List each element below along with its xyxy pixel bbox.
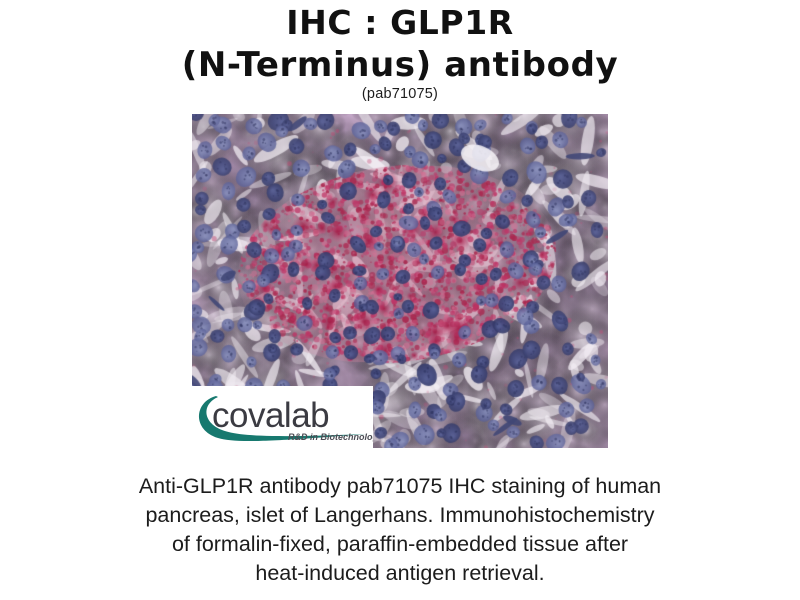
title-block: IHC : GLP1R (N-Terminus) antibody (pab71… — [0, 0, 800, 103]
micrograph-figure: covalab R&D in Biotechnology — [192, 114, 608, 448]
caption-line: pancreas, islet of Langerhans. Immunohis… — [60, 501, 740, 530]
page-title-line-1: IHC : GLP1R — [0, 3, 800, 43]
logo-tagline: R&D in Biotechnology — [288, 432, 373, 442]
covalab-logo-svg: covalab R&D in Biotechnology — [192, 386, 373, 448]
caption-line: heat-induced antigen retrieval. — [60, 559, 740, 588]
caption-line: Anti-GLP1R antibody pab71075 IHC stainin… — [60, 472, 740, 501]
caption-block: Anti-GLP1R antibody pab71075 IHC stainin… — [60, 472, 740, 588]
covalab-logo-overlay: covalab R&D in Biotechnology — [192, 386, 373, 448]
page-title-line-2: (N-Terminus) antibody — [0, 45, 800, 85]
catalog-number: (pab71075) — [0, 86, 800, 103]
caption-line: of formalin-fixed, paraffin-embedded tis… — [60, 530, 740, 559]
logo-wordmark: covalab — [212, 396, 329, 435]
